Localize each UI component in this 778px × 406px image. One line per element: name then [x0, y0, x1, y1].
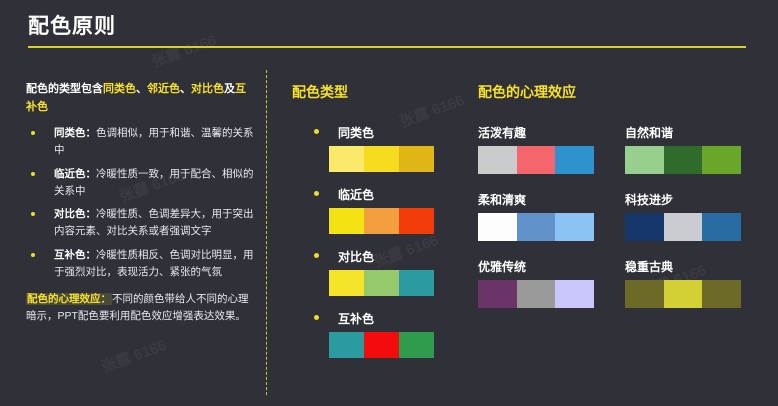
intro-text-1: 配色的类型包含 — [26, 83, 103, 95]
list-item: 同类色：色调相似，用于和谐、温馨的关系中 — [26, 125, 254, 159]
color-swatch — [364, 146, 399, 172]
bullet-term: 临近色： — [54, 168, 96, 180]
list-item: 临近色：冷暖性质一致，用于配合、相似的关系中 — [26, 166, 254, 200]
color-type-label: 对比色 — [292, 248, 442, 265]
color-swatch — [517, 280, 556, 308]
color-swatch — [555, 213, 594, 241]
intro-highlight-1: 同类色 — [103, 83, 136, 95]
bullet-term: 对比色： — [54, 208, 96, 220]
mood-swatch-row — [478, 280, 594, 308]
color-swatch — [478, 146, 517, 174]
slide-root: 张露 6166 张露 6166 张露 6166 张露 6166 张露 6166 … — [0, 0, 778, 406]
title-underline-rule — [28, 46, 746, 48]
watermark: 张露 6166 — [98, 334, 169, 377]
color-swatch — [399, 146, 434, 172]
mood-label: 自然和谐 — [625, 124, 760, 141]
color-swatch — [399, 208, 434, 234]
mood-swatch-row — [625, 213, 741, 241]
mood-palette: 科技进步 — [625, 191, 760, 241]
color-type-label: 临近色 — [292, 186, 442, 203]
color-type-block: 互补色 — [292, 310, 442, 358]
bullet-term: 同类色： — [54, 127, 96, 139]
color-swatch — [329, 208, 364, 234]
color-swatch — [702, 146, 741, 174]
intro-sep-2: 、 — [180, 83, 191, 95]
color-swatch — [329, 332, 364, 358]
psychology-note: 配色的心理效应：不同的颜色带给人不同的心理暗示，PPT配色要利用配色效应增强表达… — [26, 291, 254, 326]
color-swatch — [664, 213, 703, 241]
mood-palette: 自然和谐 — [625, 124, 760, 174]
color-swatch — [625, 213, 664, 241]
color-swatch-row — [329, 332, 434, 358]
mood-label: 稳重古典 — [625, 258, 760, 275]
mood-label: 科技进步 — [625, 191, 760, 208]
color-types-heading: 配色类型 — [292, 82, 442, 102]
list-item: 互补色：冷暖性质相反、色调对比明显，用于强烈对比，表现活力、紧张的气氛 — [26, 247, 254, 281]
color-swatch-row — [329, 270, 434, 296]
mood-label: 活泼有趣 — [478, 124, 613, 141]
intro-highlight-2: 邻近色 — [147, 83, 180, 95]
color-swatch — [517, 213, 556, 241]
color-swatch — [399, 332, 434, 358]
intro-paragraph: 配色的类型包含同类色、邻近色、对比色及互补色 — [26, 80, 254, 116]
psychology-heading: 配色的心理效应 — [478, 82, 760, 102]
right-column: 配色的心理效应 活泼有趣 自然和谐 柔和清爽 — [478, 82, 760, 308]
middle-column: 配色类型 同类色 临近色 对比色 — [292, 82, 442, 372]
color-swatch — [399, 270, 434, 296]
mood-label: 柔和清爽 — [478, 191, 613, 208]
color-type-block: 对比色 — [292, 248, 442, 296]
mood-label: 优雅传统 — [478, 258, 613, 275]
watermark: 张露 6166 — [148, 29, 219, 72]
color-swatch — [555, 280, 594, 308]
list-item: 对比色：冷暖性质、色调差异大，用于突出内容元素、对比关系或者强调文字 — [26, 206, 254, 240]
color-swatch — [625, 146, 664, 174]
color-swatch — [364, 208, 399, 234]
color-swatch-row — [329, 146, 434, 172]
color-swatch — [625, 280, 664, 308]
color-swatch — [664, 280, 703, 308]
mood-swatch-row — [625, 146, 741, 174]
color-type-bullet-list: 同类色：色调相似，用于和谐、温馨的关系中 临近色：冷暖性质一致，用于配合、相似的… — [26, 125, 254, 280]
color-swatch — [555, 146, 594, 174]
mood-palette: 优雅传统 — [478, 258, 613, 308]
intro-highlight-3: 对比色 — [191, 83, 224, 95]
color-swatch — [517, 146, 556, 174]
color-swatch — [364, 332, 399, 358]
color-swatch — [329, 146, 364, 172]
color-swatch — [702, 280, 741, 308]
color-type-label: 同类色 — [292, 124, 442, 141]
mood-palette: 柔和清爽 — [478, 191, 613, 241]
color-type-block: 同类色 — [292, 124, 442, 172]
intro-sep-1: 、 — [136, 83, 147, 95]
mood-swatch-row — [478, 146, 594, 174]
left-column: 配色的类型包含同类色、邻近色、对比色及互补色 同类色：色调相似，用于和谐、温馨的… — [26, 80, 254, 325]
mood-palette: 稳重古典 — [625, 258, 760, 308]
intro-sep-3: 及 — [224, 83, 235, 95]
color-swatch — [364, 270, 399, 296]
bullet-term: 互补色： — [54, 249, 96, 261]
color-swatch — [664, 146, 703, 174]
mood-swatch-row — [625, 280, 741, 308]
mood-palette: 活泼有趣 — [478, 124, 613, 174]
column-divider — [266, 70, 267, 395]
note-term: 配色的心理效应： — [26, 293, 112, 305]
color-swatch-row — [329, 208, 434, 234]
color-swatch — [702, 213, 741, 241]
color-swatch — [478, 280, 517, 308]
mood-swatch-row — [478, 213, 594, 241]
mood-palette-grid: 活泼有趣 自然和谐 柔和清爽 — [478, 124, 760, 308]
page-title: 配色原则 — [28, 10, 116, 40]
color-type-block: 临近色 — [292, 186, 442, 234]
color-type-label: 互补色 — [292, 310, 442, 327]
color-swatch — [478, 213, 517, 241]
color-swatch — [329, 270, 364, 296]
